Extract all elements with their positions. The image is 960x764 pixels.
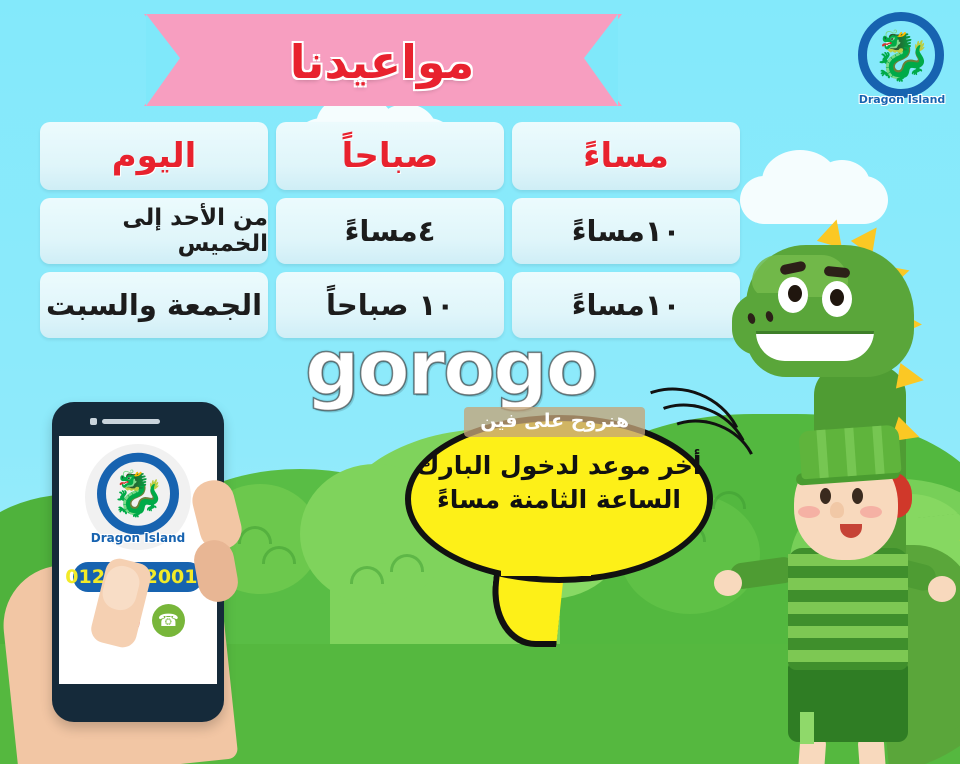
bubble-tail-join <box>501 550 591 576</box>
boy-cap <box>798 425 901 480</box>
table-header-row: اليوم صباحاً مساءً <box>40 122 740 190</box>
notice-line-1: أخر موعد لدخول البارك <box>405 449 713 483</box>
notice-line-2: الساعة الثامنة مساءً <box>405 483 713 517</box>
header-label-evening: مساءً <box>583 136 669 176</box>
notice-text: أخر موعد لدخول البارك الساعة الثامنة مسا… <box>405 449 713 517</box>
dinosaur-pupil <box>788 285 802 302</box>
cell-day: من الأحد إلى الخميس <box>40 198 268 264</box>
cloud-icon <box>740 176 888 224</box>
shirt-stripe <box>788 626 908 638</box>
boy-hand-right <box>928 576 956 602</box>
header-label-day: اليوم <box>112 136 197 176</box>
cell-value-day: الجمعة والسبت <box>46 288 262 322</box>
title-ribbon: مواعيدنا <box>152 8 612 116</box>
boy-blush <box>860 506 882 518</box>
cap-stripe <box>844 428 856 477</box>
notice-speech-bubble: أخر موعد لدخول البارك الساعة الثامنة مسا… <box>405 415 725 640</box>
dinosaur-spike-icon <box>896 363 926 393</box>
shirt-stripe <box>788 602 908 614</box>
cell-value-evening: ١٠مساءً <box>572 214 681 248</box>
shirt-stripe <box>788 650 908 662</box>
brand-logo: 🐉 Dragon Island <box>85 444 191 550</box>
boy-eye <box>820 488 831 504</box>
dinosaur-spike-icon <box>817 216 849 248</box>
header-cell-morning: صباحاً <box>276 122 504 190</box>
dragon-head-icon: 🐉 <box>111 472 166 516</box>
earpiece-speaker <box>102 419 160 424</box>
boy-shirt <box>788 548 908 670</box>
header-cell-day: اليوم <box>40 122 268 190</box>
header-label-morning: صباحاً <box>342 136 439 176</box>
table-row: من الأحد إلى الخميس ٤مساءً ١٠مساءً <box>40 198 740 264</box>
dinosaur-pupil <box>830 289 844 306</box>
header-cell-evening: مساءً <box>512 122 740 190</box>
boy-shorts-gap <box>800 712 814 744</box>
cell-evening: ١٠مساءً <box>512 198 740 264</box>
shirt-stripe <box>788 578 908 590</box>
page-title: مواعيدنا <box>152 8 612 116</box>
poster-canvas: مواعيدنا اليوم صباحاً مساءً من الأحد إلى… <box>0 0 960 764</box>
schedule-table: اليوم صباحاً مساءً من الأحد إلى الخميس ٤… <box>40 122 740 346</box>
cell-day: الجمعة والسبت <box>40 272 268 338</box>
dinosaur-mouth <box>756 331 874 361</box>
cell-morning: ٤مساءً <box>276 198 504 264</box>
boy-blush <box>798 506 820 518</box>
cap-stripe <box>816 430 828 479</box>
cell-value-morning: ١٠ صباحاً <box>326 288 454 322</box>
boy-eye <box>852 488 863 504</box>
phone-call-icon: ☎ <box>158 611 179 631</box>
cell-value-day: من الأحد إلى الخميس <box>40 205 268 257</box>
dragon-head-icon: 🐉 <box>872 32 932 80</box>
cell-morning: ١٠ صباحاً <box>276 272 504 338</box>
logo-label: Dragon Island <box>85 531 191 545</box>
cell-value-evening: ١٠مساءً <box>572 288 681 322</box>
accept-call-button[interactable]: ☎ <box>152 604 185 637</box>
cell-value-morning: ٤مساءً <box>345 214 436 248</box>
cap-stripe <box>872 426 884 475</box>
table-row: الجمعة والسبت ١٠ صباحاً ١٠مساءً <box>40 272 740 338</box>
front-camera-icon <box>90 418 97 425</box>
logo-label: Dragon Island <box>852 93 952 106</box>
cell-evening: ١٠مساءً <box>512 272 740 338</box>
brand-logo-badge: 🐉 Dragon Island <box>852 8 952 108</box>
boy-nose <box>830 502 844 518</box>
